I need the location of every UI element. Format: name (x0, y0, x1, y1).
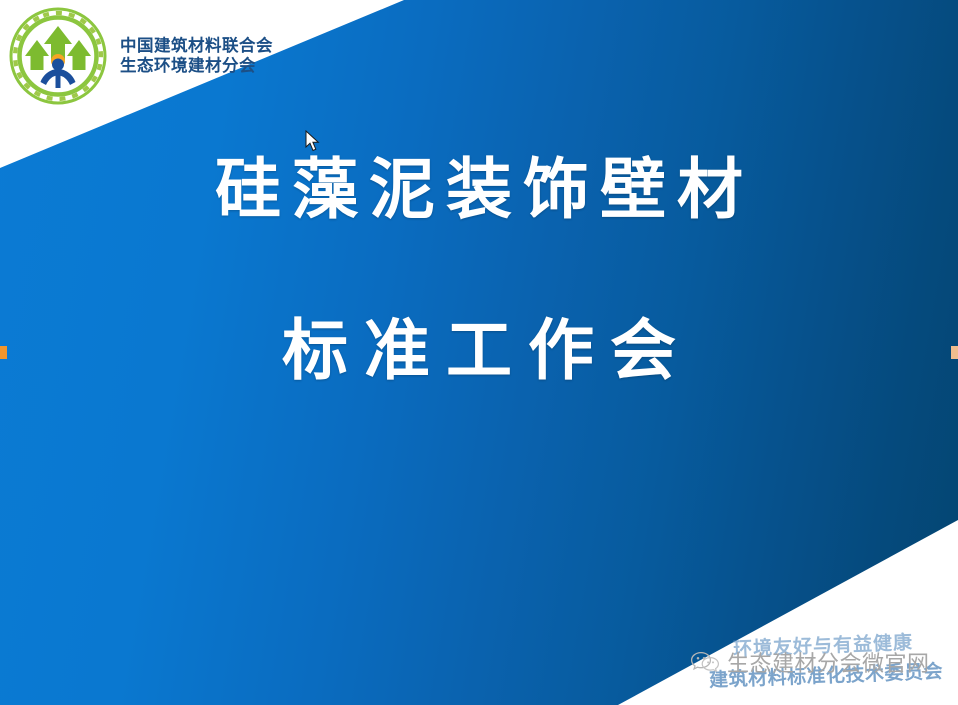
presentation-slide: 中国建筑材料联合会 生态环境建材分会 硅藻泥装饰壁材 标准工作会 环境友好与有益… (0, 0, 958, 705)
org-name-line-1: 中国建筑材料联合会 (120, 36, 273, 56)
slide-headline: 硅藻泥装饰壁材 标准工作会 (0, 155, 958, 386)
wechat-icon (690, 650, 720, 674)
left-edge-marker (0, 346, 7, 359)
headline-line-1: 硅藻泥装饰壁材 (0, 155, 958, 224)
organization-name: 中国建筑材料联合会 生态环境建材分会 (120, 36, 273, 76)
organization-logo-block: 中国建筑材料联合会 生态环境建材分会 (6, 4, 273, 108)
org-name-line-2: 生态环境建材分会 (120, 56, 273, 76)
headline-line-2: 标准工作会 (0, 316, 958, 385)
right-edge-marker (951, 346, 958, 359)
wechat-watermark: 生态建材分会微官网 (690, 646, 930, 678)
eco-building-materials-logo-icon (6, 4, 110, 108)
wechat-watermark-label: 生态建材分会微官网 (727, 646, 930, 678)
